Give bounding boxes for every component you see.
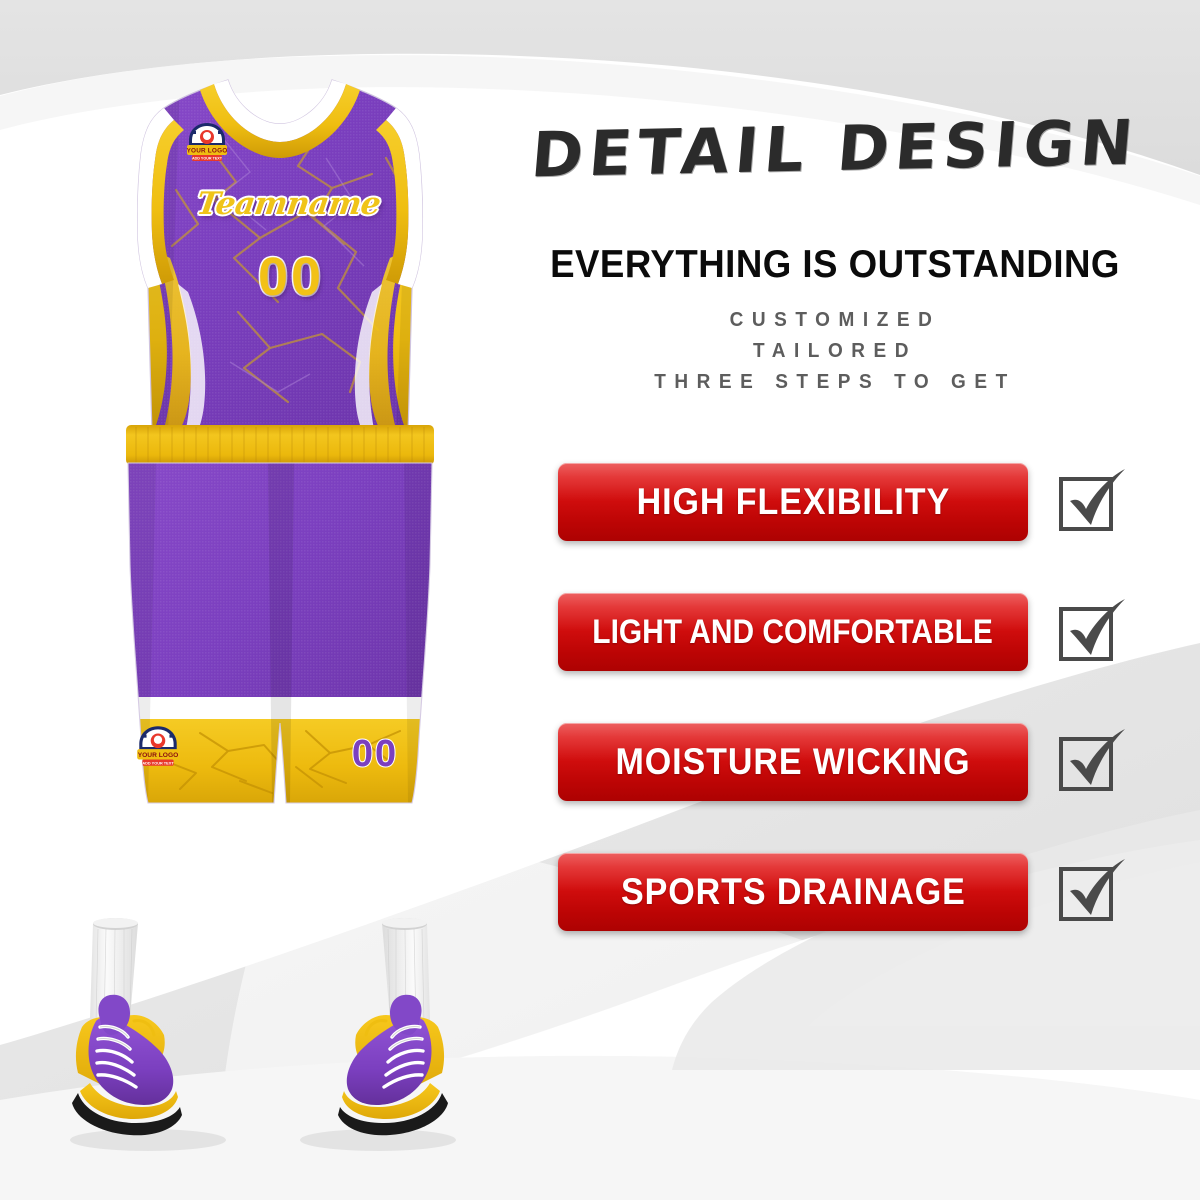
shoes-graphic xyxy=(60,915,460,1155)
checkbox-checked-icon[interactable] xyxy=(1053,723,1131,801)
feature-banner-sports-drainage[interactable]: SPORTS DRAINAGE xyxy=(558,853,1028,931)
basketball-shoes-image xyxy=(60,915,460,1155)
tagline-block: CUSTOMIZED TAILORED THREE STEPS TO GET xyxy=(470,305,1200,398)
feature-banner-high-flexibility[interactable]: HIGH FLEXIBILITY xyxy=(558,463,1028,541)
jersey-number: 00 xyxy=(235,246,347,308)
right-shoe xyxy=(338,918,448,1135)
feature-label: SPORTS DRAINAGE xyxy=(621,871,966,913)
feature-banner-moisture-wicking[interactable]: MOISTURE WICKING xyxy=(558,723,1028,801)
shorts-logo-text: YOUR LOGO xyxy=(138,752,179,759)
tagline-1: CUSTOMIZED xyxy=(488,305,1182,336)
jersey-logo-badge: YOUR LOGO ADD YOUR TEXT xyxy=(182,120,232,164)
jersey-logo-text: YOUR LOGO xyxy=(187,148,228,155)
feature-row: HIGH FLEXIBILITY xyxy=(470,455,1200,585)
feature-row: LIGHT AND COMFORTABLE xyxy=(470,585,1200,715)
left-shoe xyxy=(72,918,182,1135)
feature-label: HIGH FLEXIBILITY xyxy=(636,481,950,523)
marketing-copy-column: DETAIL DESIGN EVERYTHING IS OUTSTANDING … xyxy=(470,0,1200,1200)
feature-label: LIGHT AND COMFORTABLE xyxy=(593,613,994,652)
feature-row: SPORTS DRAINAGE xyxy=(470,845,1200,975)
tagline-3: THREE STEPS TO GET xyxy=(488,367,1182,398)
tagline-2: TAILORED xyxy=(488,336,1182,367)
shorts-logo-badge: YOUR LOGO ADD YOUR TEXT xyxy=(132,723,184,769)
shorts-logo-subtext: ADD YOUR TEXT xyxy=(142,761,174,765)
checkbox-checked-icon[interactable] xyxy=(1053,853,1131,931)
product-photo-column: YOUR LOGO ADD YOUR TEXT Teamname 00 xyxy=(0,0,470,1200)
page-subtitle: EVERYTHING IS OUTSTANDING xyxy=(492,243,1178,287)
feature-label: MOISTURE WICKING xyxy=(615,741,970,783)
page-title: DETAIL DESIGN xyxy=(467,110,1200,187)
shorts-number: 00 xyxy=(330,733,420,776)
checkbox-checked-icon[interactable] xyxy=(1053,593,1131,671)
poster-canvas: YOUR LOGO ADD YOUR TEXT Teamname 00 xyxy=(0,0,1200,1200)
jersey-logo-subtext: ADD YOUR TEXT xyxy=(192,157,223,161)
feature-banner-light-and-comfortable[interactable]: LIGHT AND COMFORTABLE xyxy=(558,593,1028,671)
feature-list: HIGH FLEXIBILITY LIGHT AND COMFORTABLE xyxy=(470,455,1200,975)
checkbox-checked-icon[interactable] xyxy=(1053,463,1131,541)
feature-row: MOISTURE WICKING xyxy=(470,715,1200,845)
